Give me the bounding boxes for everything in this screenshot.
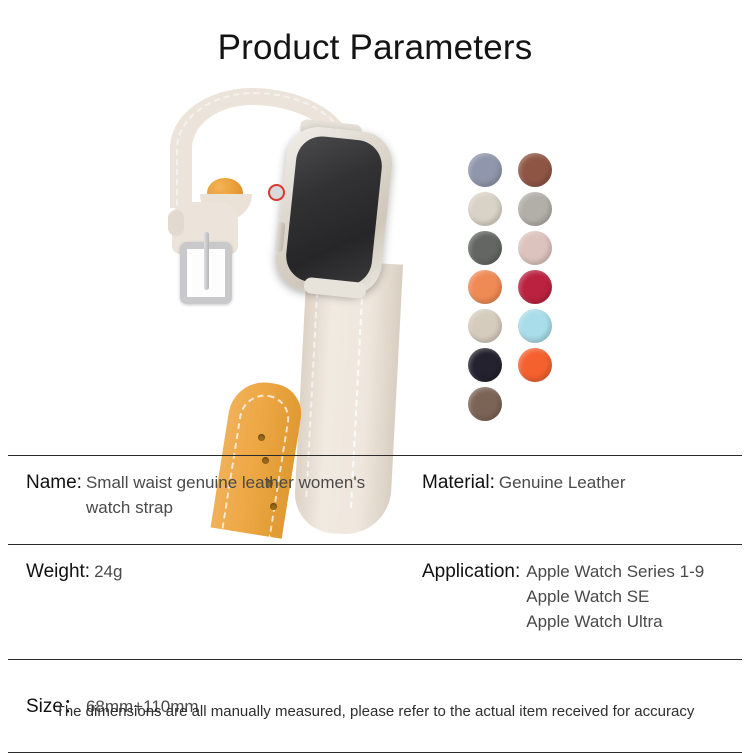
watch-screen: [284, 134, 385, 288]
spec-value-weight: 24g: [94, 559, 122, 584]
spec-cell-material: Material: Genuine Leather: [420, 470, 742, 495]
spec-cell-application: Application: Apple Watch Series 1-9 Appl…: [420, 559, 742, 634]
color-swatch-black-navy[interactable]: [468, 348, 502, 382]
color-swatch-dusty-pink[interactable]: [518, 231, 552, 265]
spec-value-material: Genuine Leather: [499, 470, 626, 495]
swatch-grid-spacer: [518, 387, 552, 421]
page-title: Product Parameters: [0, 28, 750, 68]
spec-label-weight: Weight:: [26, 559, 90, 584]
color-swatch-crimson[interactable]: [518, 270, 552, 304]
color-swatch-warm-gray[interactable]: [518, 192, 552, 226]
table-row: Name: Small waist genuine leather women'…: [8, 456, 742, 544]
product-image: [0, 82, 750, 452]
list-item: Apple Watch SE: [526, 584, 704, 609]
buckle-prong: [204, 232, 209, 290]
color-swatch-brown[interactable]: [518, 153, 552, 187]
list-item: Apple Watch Ultra: [526, 609, 704, 634]
color-swatch-orange-red[interactable]: [518, 348, 552, 382]
footer-disclaimer: The dimensions are all manually measured…: [0, 703, 750, 720]
color-swatch-taupe-brown[interactable]: [468, 387, 502, 421]
list-item: Apple Watch Series 1-9: [526, 559, 704, 584]
strap-hole: [258, 434, 265, 441]
color-option-swatches[interactable]: [468, 153, 560, 421]
spec-cell-name: Name: Small waist genuine leather women'…: [8, 470, 420, 520]
color-swatch-cream-beige[interactable]: [468, 192, 502, 226]
spec-value-name: Small waist genuine leather women's watc…: [86, 470, 398, 520]
application-list: Apple Watch Series 1-9 Apple Watch SE Ap…: [526, 559, 704, 634]
table-row: Weight: 24g Application: Apple Watch Ser…: [8, 545, 742, 659]
spec-label-name: Name:: [26, 470, 82, 495]
color-swatch-light-beige[interactable]: [468, 309, 502, 343]
spec-label-application: Application:: [422, 559, 520, 584]
color-swatch-periwinkle-gray[interactable]: [468, 153, 502, 187]
buckle-keeper-loop: [168, 210, 184, 236]
spec-cell-weight: Weight: 24g: [8, 559, 420, 584]
spec-label-material: Material:: [422, 470, 495, 495]
color-swatch-orange[interactable]: [468, 270, 502, 304]
color-swatch-light-blue[interactable]: [518, 309, 552, 343]
color-swatch-dark-gray[interactable]: [468, 231, 502, 265]
